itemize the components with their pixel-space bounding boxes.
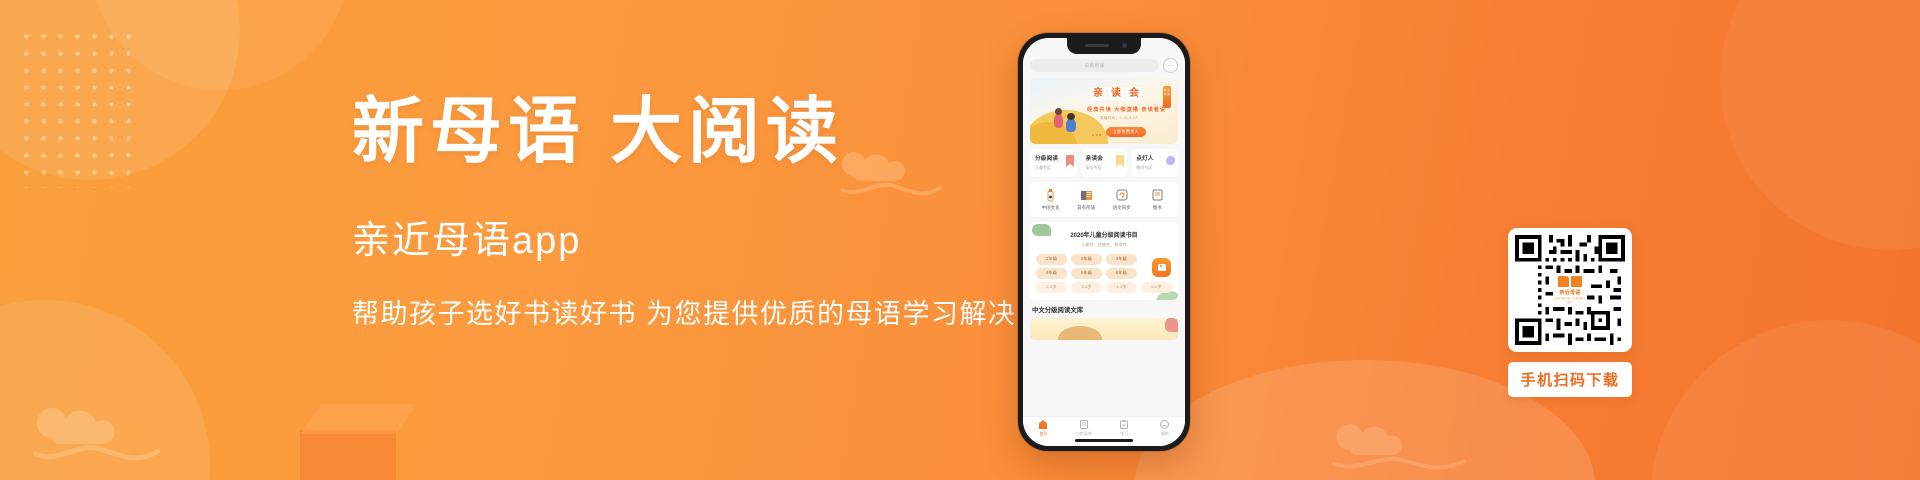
tab-label: 首页 (1023, 431, 1064, 437)
phone-mockup: 日有所诵 ··· 亲 读 会 亲子共读 经典共读 大咖直播 亲读者说 (1018, 33, 1190, 451)
bookmark-red-icon (1065, 154, 1075, 168)
age-chip[interactable]: 5-6岁 (1141, 282, 1172, 293)
profile-icon (1145, 420, 1186, 429)
decorative-dot-grid (18, 28, 138, 188)
decorative-circle-top-left (0, 0, 240, 180)
quick-icon-label: 中国文化 (1033, 205, 1069, 211)
home-icon (1023, 420, 1064, 429)
cloud-motif-bottom-icon (30, 400, 180, 470)
bookmark-yellow-icon (1115, 154, 1125, 168)
promo-child-illustration-1 (1054, 113, 1063, 128)
promo-side-tag: 亲子共读 (1163, 86, 1171, 108)
promo-title-char: 会 (1126, 87, 1142, 100)
scroll-icon (1033, 189, 1069, 202)
zone-card-teacher[interactable]: 点灯人 教师专区 (1131, 149, 1178, 177)
promo-join-button[interactable]: 立即免费加入 (1106, 127, 1146, 137)
book-icon (1140, 189, 1176, 202)
search-input[interactable]: 日有所诵 (1030, 59, 1159, 72)
tab-home[interactable]: 首页 (1023, 420, 1064, 437)
logo-subtitle: 点亮儿童中国心 母语滋养中国人 (1553, 296, 1587, 304)
library-card[interactable] (1030, 318, 1178, 340)
zone-card-row: 分级阅读 儿童专区 亲读会 家长专区 点灯人 教师专区 (1030, 149, 1178, 177)
reading-icon (1064, 420, 1105, 429)
decorative-circle-top-left-2 (90, 0, 350, 90)
zone-card-parent[interactable]: 亲读会 家长专区 (1081, 149, 1128, 177)
library-card-tab (1165, 318, 1178, 332)
banner-headline: 新母语 大阅读 (352, 92, 1052, 173)
promo-title-char: 读 (1108, 87, 1124, 100)
library-section-title: 中文分级阅读文库 (1032, 305, 1176, 314)
grade-chip[interactable]: 6年级 (1106, 268, 1137, 279)
app-screen: 日有所诵 ··· 亲 读 会 亲子共读 经典共读 大咖直播 亲读者说 (1023, 38, 1185, 446)
tab-study[interactable]: 学习 (1104, 420, 1145, 437)
quick-icon-chinese-culture[interactable]: 中国文化 (1033, 189, 1069, 211)
promo-banner: 新母语 大阅读 亲近母语app 帮助孩子选好书读好书 为您提供优质的母语学习解决… (0, 0, 1920, 480)
logo-book-left (1558, 276, 1569, 287)
quick-icon-label: 日有所诵 (1069, 205, 1105, 211)
zone-card-graded-reading[interactable]: 分级阅读 儿童专区 (1030, 149, 1077, 177)
quick-icon-sync[interactable]: 语文同步 (1104, 189, 1140, 211)
quick-icon-label: 图书 (1140, 205, 1176, 211)
grade-section-subtitle: 儿童性、经典性、教育性 (1036, 242, 1172, 248)
grade-chip[interactable]: 5年级 (1071, 268, 1102, 279)
qr-card[interactable]: 亲近母语 点亮儿童中国心 母语滋养中国人 (1508, 228, 1632, 352)
promo-title-char: 亲 (1090, 87, 1106, 100)
decorative-circle-right (1720, 0, 1920, 250)
grade-section: 2020年儿童分级阅读书目 儿童性、经典性、教育性 1年级 2年级 3年级 4年… (1030, 222, 1178, 301)
grade-chip[interactable]: 3年级 (1106, 254, 1137, 265)
grade-chip[interactable]: 2年级 (1071, 254, 1102, 265)
banner-subheadline: 亲近母语app (352, 219, 1052, 265)
cloud-motif-bottom-right-icon (1330, 416, 1490, 476)
clipboard-icon (1104, 420, 1145, 429)
library-card-arc (1058, 326, 1102, 340)
grade-section-title: 2020年儿童分级阅读书目 (1036, 230, 1172, 239)
tab-profile[interactable]: 我的 (1145, 420, 1186, 437)
phone-home-indicator (1075, 439, 1133, 442)
age-chip[interactable]: 3-4岁 (1071, 282, 1102, 293)
bookmark-purple-icon (1166, 154, 1176, 168)
qr-download-block: 亲近母语 点亮儿童中国心 母语滋养中国人 手机扫码下载 (1508, 228, 1632, 397)
app-promo-banner[interactable]: 亲 读 会 亲子共读 经典共读 大咖直播 亲读者说 直播时间：9.16-9.27… (1030, 78, 1178, 144)
tab-reading[interactable]: 小步读书 (1064, 420, 1105, 437)
quick-icon-daily-recite[interactable]: 日有所诵 (1069, 189, 1105, 211)
logo-books-icon (1558, 276, 1582, 287)
message-icon[interactable]: ··· (1163, 58, 1178, 73)
grade-chip[interactable]: 1年级 (1036, 254, 1067, 265)
circle-sync-icon (1104, 189, 1140, 202)
quick-icon-row: 中国文化 日有所诵 语文同步 (1030, 182, 1178, 217)
tab-label: 我的 (1145, 431, 1186, 437)
promo-title: 亲 读 会 (1090, 87, 1142, 100)
quick-icon-label: 语文同步 (1104, 205, 1140, 211)
promo-date: 直播时间：9.16-9.27 (1100, 116, 1137, 121)
decorative-cube (300, 430, 396, 480)
logo-book-right (1571, 276, 1582, 287)
tab-label: 学习 (1104, 431, 1145, 437)
banner-text-block: 新母语 大阅读 亲近母语app 帮助孩子选好书读好书 为您提供优质的母语学习解决… (352, 92, 1052, 331)
decorative-circle-bottom-right (1650, 320, 1920, 480)
open-book-icon (1069, 189, 1105, 202)
promo-child-illustration-2 (1066, 118, 1076, 132)
play-video-button[interactable] (1152, 258, 1171, 277)
download-button[interactable]: 手机扫码下载 (1508, 362, 1631, 397)
decorative-circle-bottom-left (0, 300, 210, 480)
phone-screen-frame: 日有所诵 ··· 亲 读 会 亲子共读 经典共读 大咖直播 亲读者说 (1023, 38, 1185, 446)
phone-notch (1067, 38, 1141, 54)
promo-subtitle: 经典共读 大咖直播 亲读者说 (1087, 106, 1166, 113)
promo-dots (1092, 134, 1101, 136)
quick-icon-books[interactable]: 图书 (1140, 189, 1176, 211)
logo-title: 亲近母语 (1559, 289, 1580, 296)
age-chip[interactable]: 0-3岁 (1036, 282, 1067, 293)
grade-chip[interactable]: 4年级 (1036, 268, 1067, 279)
age-chip[interactable]: 4-5岁 (1106, 282, 1137, 293)
qr-center-logo: 亲近母语 点亮儿童中国心 母语滋养中国人 (1553, 273, 1587, 307)
banner-tagline: 帮助孩子选好书读好书 为您提供优质的母语学习解决方案 (352, 292, 1052, 331)
tab-label: 小步读书 (1064, 431, 1105, 437)
app-search-row: 日有所诵 ··· (1030, 58, 1178, 73)
